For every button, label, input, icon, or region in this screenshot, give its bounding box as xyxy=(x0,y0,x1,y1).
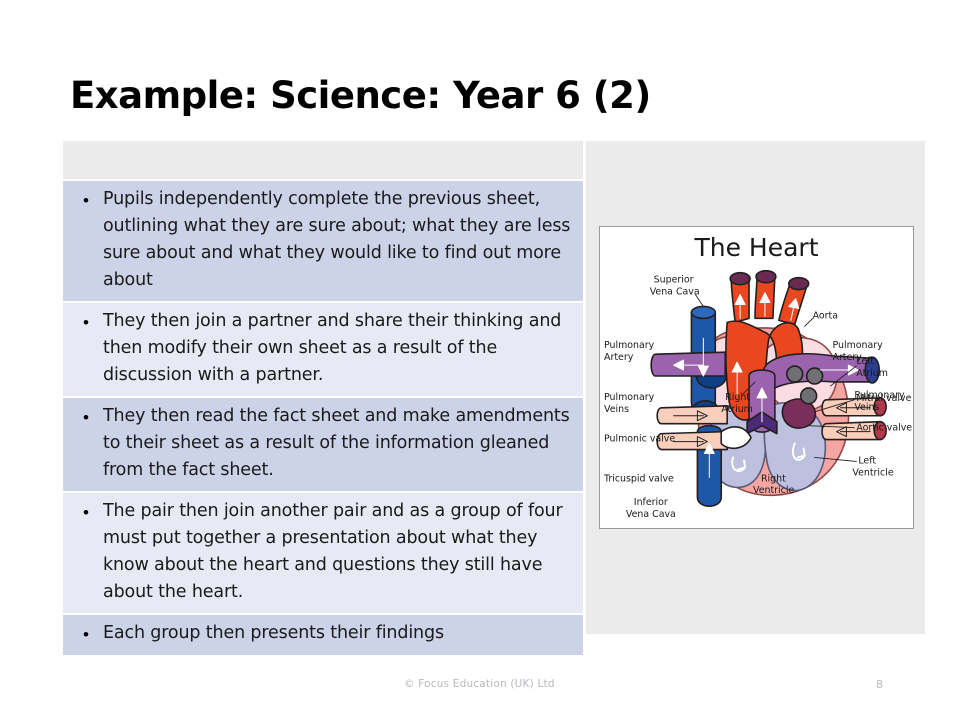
label-pulmonary-artery-left-line2: Artery xyxy=(604,352,634,363)
table-row: • Pupils independently complete the prev… xyxy=(63,181,583,303)
left-atrium-inlet-1 xyxy=(787,366,803,382)
table-row-text: Each group then presents their findings xyxy=(103,620,577,647)
label-pulmonary-veins-left-line2: Veins xyxy=(604,404,629,415)
label-aorta: Aorta xyxy=(813,310,838,321)
footer-copyright: © Focus Education (UK) Ltd xyxy=(404,678,555,690)
table-row-text: They then join a partner and share their… xyxy=(103,308,577,389)
bullet-icon: • xyxy=(69,186,103,214)
image-column: The Heart xyxy=(584,141,925,634)
pulmonary-artery-left-vessel xyxy=(651,352,725,376)
label-superior-vena-cava-line1: Superior xyxy=(654,275,694,286)
label-right-atrium-line2: Atrium xyxy=(721,404,753,415)
label-superior-vena-cava-line2: Vena Cava xyxy=(650,287,700,298)
label-right-ventricle-line1: Right xyxy=(761,473,786,484)
aorta-opening-1 xyxy=(730,273,750,285)
bullet-icon: • xyxy=(69,308,103,336)
leader-aorta xyxy=(805,318,813,326)
page-title: Example: Science: Year 6 (2) xyxy=(70,74,651,117)
heart-anatomy-illustration: Superior Vena Cava Aorta Pulmonary Arter… xyxy=(600,227,913,528)
label-right-atrium-line1: Right xyxy=(725,392,750,403)
bullet-icon: • xyxy=(69,403,103,431)
left-atrium-inlet-3 xyxy=(801,388,817,404)
pulmonary-vein-left-1 xyxy=(657,406,727,424)
bullet-column: • Pupils independently complete the prev… xyxy=(63,141,583,657)
bullet-icon: • xyxy=(69,498,103,526)
bullet-icon: • xyxy=(69,620,103,648)
label-mitral-valve: Mitral valve xyxy=(856,393,911,404)
aorta-opening-3 xyxy=(789,278,809,290)
label-pulmonic-valve: Pulmonic valve xyxy=(604,434,675,445)
label-pulmonary-artery-right-line1: Pulmonary xyxy=(832,340,883,351)
label-aortic-valve: Aortic valve xyxy=(856,423,912,434)
table-row-text: The pair then join another pair and as a… xyxy=(103,498,577,606)
aorta-opening-2 xyxy=(756,271,776,283)
label-left-atrium-line1: Left xyxy=(856,356,874,367)
table-row-text: They then read the fact sheet and make a… xyxy=(103,403,577,484)
left-atrium-inlet-2 xyxy=(807,368,823,384)
label-right-ventricle-line2: Ventricle xyxy=(753,485,794,496)
label-tricuspid-valve: Tricuspid valve xyxy=(603,473,674,484)
table-row: • They then read the fact sheet and make… xyxy=(63,398,583,493)
table-row: • The pair then join another pair and as… xyxy=(63,493,583,615)
table-header-row xyxy=(63,141,583,181)
label-inferior-vena-cava-line2: Vena Cava xyxy=(626,509,676,520)
label-pulmonary-veins-left-line1: Pulmonary xyxy=(604,392,655,403)
label-left-ventricle-line2: Ventricle xyxy=(852,467,893,478)
footer-page-number: 8 xyxy=(876,678,883,691)
label-inferior-vena-cava-line1: Inferior xyxy=(634,497,668,508)
label-pulmonary-artery-left-line1: Pulmonary xyxy=(604,340,655,351)
superior-vena-cava-opening xyxy=(691,306,715,318)
table-row: • They then join a partner and share the… xyxy=(63,303,583,398)
table-row-text: Pupils independently complete the previo… xyxy=(103,186,577,294)
content-table: • Pupils independently complete the prev… xyxy=(63,141,925,634)
label-left-atrium-line2: Atrium xyxy=(856,368,888,379)
table-row: • Each group then presents their finding… xyxy=(63,615,583,657)
label-left-ventricle-line1: Left xyxy=(858,455,876,466)
heart-diagram-figure: The Heart xyxy=(599,226,914,529)
